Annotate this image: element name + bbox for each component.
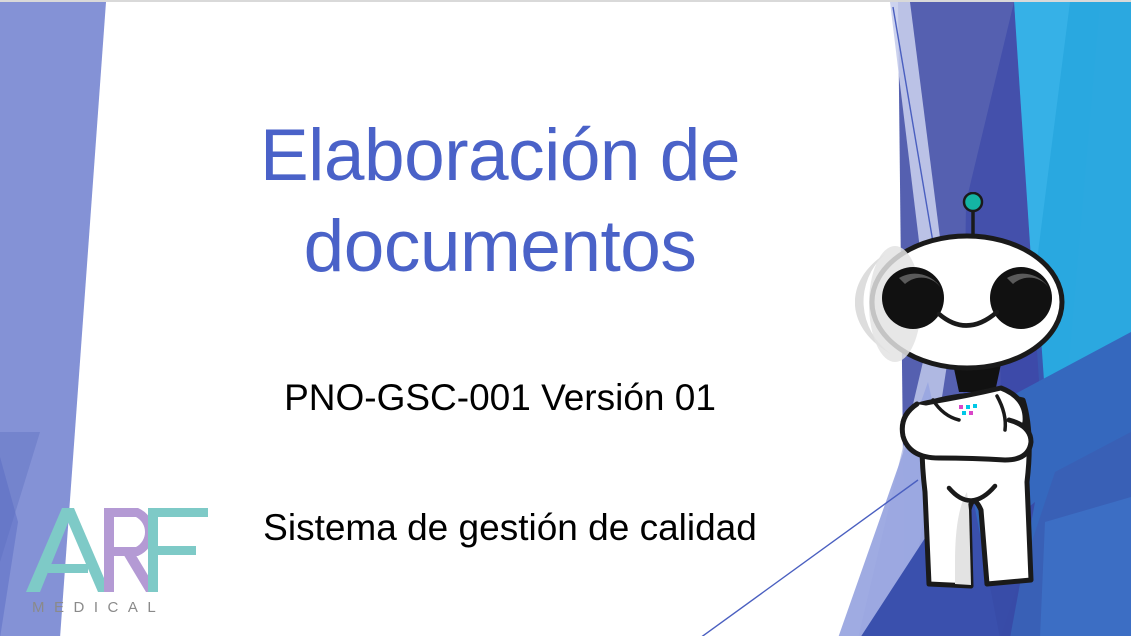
- robot-chest-dot-cyan-2: [973, 404, 977, 408]
- robot-chest-dot-magenta-2: [969, 411, 973, 415]
- presentation-slide: MEDICAL: [0, 0, 1131, 636]
- slide-title: Elaboración de documentos: [130, 110, 870, 293]
- logo-subtext: MEDICAL: [32, 599, 165, 616]
- robot-antenna-ball: [964, 193, 982, 211]
- robot-chest-dot-cyan-1: [966, 405, 970, 409]
- robot-chest-dot-cyan-3: [962, 411, 966, 415]
- logo-letter-a: [26, 508, 110, 592]
- robot-mascot: [855, 192, 1085, 612]
- document-code: PNO-GSC-001 Versión 01: [130, 377, 870, 419]
- slide-subtitle: Sistema de gestión de calidad: [110, 507, 910, 549]
- robot-chest-dot-magenta: [959, 405, 963, 409]
